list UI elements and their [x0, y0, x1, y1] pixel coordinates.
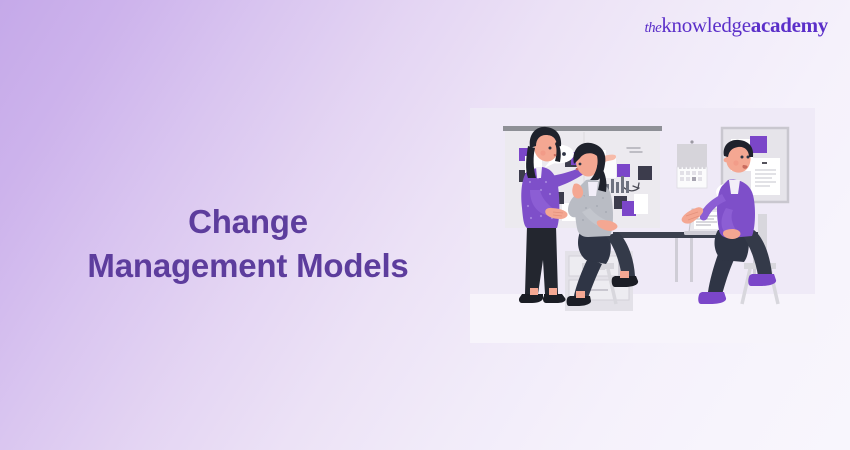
brand-logo[interactable]: theknowledgeacademy	[645, 15, 829, 36]
logo-knowledge: knowledge	[661, 13, 750, 37]
wall-calendar	[677, 140, 707, 188]
page-title: Change Management Models	[38, 200, 458, 288]
page-title-line-2: Management Models	[38, 244, 458, 288]
logo-the: the	[645, 20, 662, 36]
meeting-illustration	[470, 108, 815, 343]
logo-academy: academy	[751, 13, 828, 37]
page-title-line-1: Change	[38, 200, 458, 244]
banner-canvas: theknowledgeacademy Change Management Mo…	[0, 0, 850, 450]
